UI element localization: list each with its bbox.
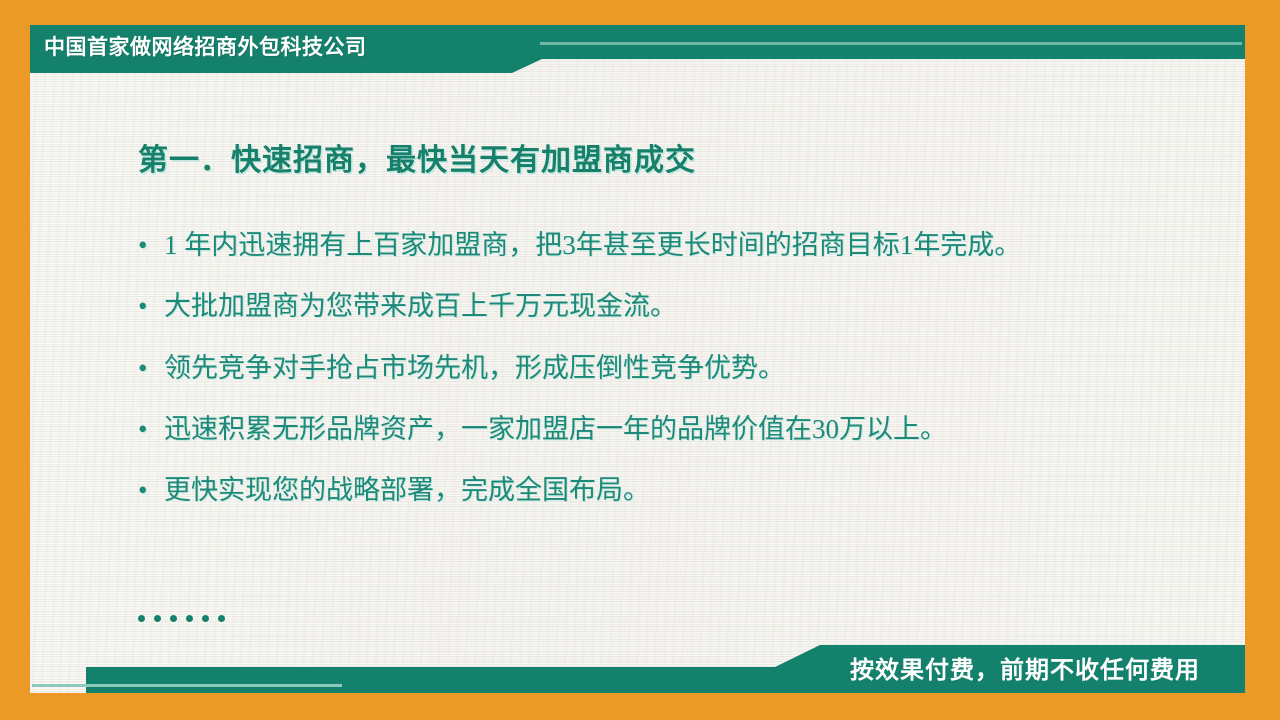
footer-slogan: 按效果付费，前期不收任何费用 <box>850 650 1200 685</box>
page-title: 第一．快速招商，最快当天有加盟商成交 <box>138 135 696 179</box>
ellipsis-dot <box>170 615 177 622</box>
bullet-marker-icon: • <box>138 415 164 443</box>
bullet-marker-icon: • <box>138 476 164 504</box>
company-tagline: 中国首家做网络招商外包科技公司 <box>44 31 367 61</box>
bullet-marker-icon: • <box>138 231 164 259</box>
ellipsis-dot <box>186 615 193 622</box>
slide-canvas: 中国首家做网络招商外包科技公司 第一．快速招商，最快当天有加盟商成交 • 1 年… <box>0 0 1280 720</box>
list-item: • 迅速积累无形品牌资产，一家加盟店一年的品牌价值在30万以上。 <box>138 415 1228 443</box>
slide-content: 第一．快速招商，最快当天有加盟商成交 • 1 年内迅速拥有上百家加盟商，把3年甚… <box>30 73 1245 633</box>
list-item: • 1 年内迅速拥有上百家加盟商，把3年甚至更长时间的招商目标1年完成。 <box>138 231 1228 259</box>
list-item: • 大批加盟商为您带来成百上千万元现金流。 <box>138 292 1228 320</box>
ellipsis-dot <box>138 615 145 622</box>
list-item-text: 1 年内迅速拥有上百家加盟商，把3年甚至更长时间的招商目标1年完成。 <box>164 231 1228 259</box>
list-item: • 领先竞争对手抢占市场先机，形成压倒性竞争优势。 <box>138 354 1228 382</box>
bullet-marker-icon: • <box>138 354 164 382</box>
ellipsis-continuation <box>138 615 225 622</box>
ellipsis-dot <box>202 615 209 622</box>
bullet-marker-icon: • <box>138 292 164 320</box>
list-item-text: 大批加盟商为您带来成百上千万元现金流。 <box>164 292 1228 320</box>
list-item-text: 迅速积累无形品牌资产，一家加盟店一年的品牌价值在30万以上。 <box>164 415 1228 443</box>
ellipsis-dot <box>154 615 161 622</box>
bullet-list: • 1 年内迅速拥有上百家加盟商，把3年甚至更长时间的招商目标1年完成。 • 大… <box>138 231 1228 538</box>
list-item-text: 领先竞争对手抢占市场先机，形成压倒性竞争优势。 <box>164 354 1228 382</box>
list-item: • 更快实现您的战略部署，完成全国布局。 <box>138 476 1228 504</box>
footer-hairline-divider <box>32 684 342 687</box>
header-hairline-divider <box>540 42 1242 45</box>
ellipsis-dot <box>218 615 225 622</box>
list-item-text: 更快实现您的战略部署，完成全国布局。 <box>164 476 1228 504</box>
